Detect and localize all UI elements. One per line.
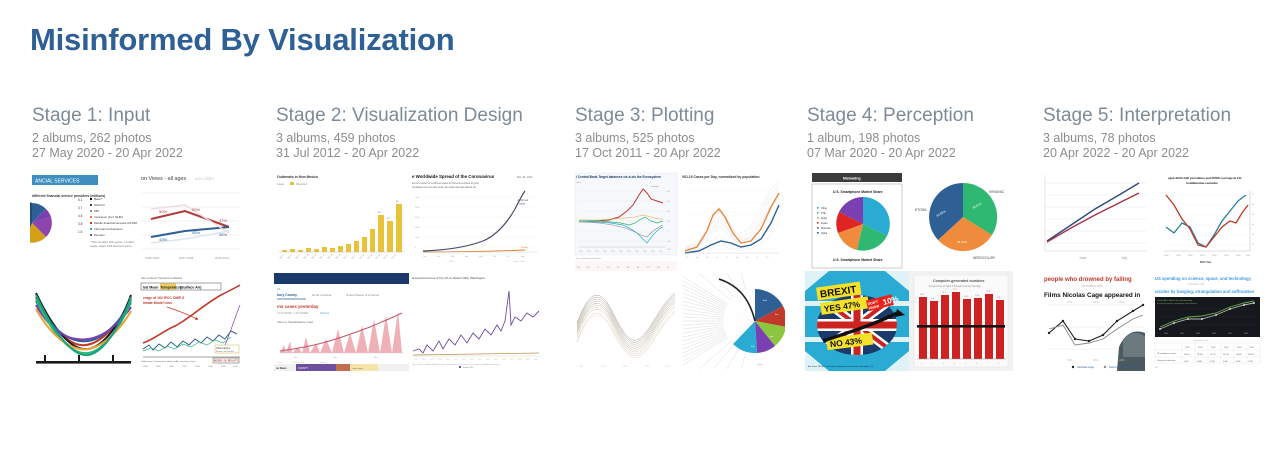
- thumb-financial-services-pie-chart[interactable]: ANCIAL SERVICES different financial serv…: [30, 171, 137, 271]
- svg-text:Temperature: Temperature: [161, 286, 183, 290]
- svg-text:50%: 50%: [159, 209, 167, 214]
- svg-text:July: July: [1121, 256, 1127, 260]
- svg-text:Bank*: Bank*: [94, 197, 103, 201]
- svg-text:erage of 102 IPCC CMIP-5: erage of 102 IPCC CMIP-5: [143, 296, 184, 300]
- svg-text:Note: Sources including 1940s,: Note: Sources including 1940s, the data …: [412, 363, 501, 366]
- svg-text:Global mean Temperature (Surfa: Global mean Temperature (Surface Air) an…: [141, 360, 196, 363]
- svg-text:people, subject 2016 FinAccess: people, subject 2016 FinAccess Survey: [90, 245, 133, 248]
- thumb-brexit-referendum-graphic[interactable]: BREXIT YES 47% NO 43% DON'T: [805, 271, 909, 371]
- svg-text:June: June: [1079, 256, 1086, 260]
- svg-text:COUNTY: COUNTY: [298, 367, 308, 370]
- svg-text:Jun: Jun: [493, 256, 496, 258]
- svg-text:350k: 350k: [415, 217, 419, 219]
- svg-text:1972: 1972: [502, 359, 506, 361]
- svg-text:200: 200: [667, 221, 670, 223]
- svg-text:1.6: 1.6: [78, 230, 83, 234]
- svg-text:1937: 1937: [446, 359, 450, 361]
- svg-text:Household income of Top 1% vs.: Household income of Top 1% vs. Bottom 99…: [412, 276, 485, 280]
- svg-text:2002: 2002: [587, 251, 591, 253]
- stage-2-thumbnail-grid[interactable]: Outbreaks in New Mexico Cases Reported: [274, 171, 544, 371]
- svg-text:6.1: 6.1: [78, 198, 83, 202]
- svg-text:700k: 700k: [415, 197, 419, 199]
- svg-text:SACCO: SACCO: [94, 203, 105, 207]
- svg-text:1880: 1880: [156, 366, 162, 368]
- stage-3-title[interactable]: Stage 3: Plotting: [575, 104, 805, 128]
- svg-text:1960: 1960: [208, 366, 214, 368]
- svg-text:limate Model runs: limate Model runs: [143, 301, 172, 305]
- stage-card-3[interactable]: Stage 3: Plotting 3 albums, 525 photos 1…: [573, 104, 805, 371]
- svg-text:AEROCOLOR: AEROCOLOR: [973, 256, 995, 260]
- svg-text:1922: 1922: [422, 359, 426, 361]
- svg-text:-200: -200: [667, 241, 671, 243]
- svg-text:500k: 500k: [415, 207, 419, 209]
- svg-text:Mar 28, 2020: Mar 28, 2020: [517, 175, 533, 179]
- svg-text:2010: 2010: [645, 366, 649, 368]
- svg-text:(R): (R): [1155, 367, 1158, 369]
- svg-text:VIRGINIC: VIRGINIC: [989, 190, 1005, 194]
- svg-text:2005: 2005: [611, 251, 615, 253]
- svg-text:correlates with: correlates with: [1188, 282, 1205, 286]
- thumb-new-mexico-yellow-bar-chart[interactable]: Outbreaks in New Mexico Cases Reported: [274, 171, 409, 271]
- svg-text:Cases: Cases: [277, 182, 285, 186]
- svg-text:400: 400: [667, 211, 670, 213]
- svg-text:Scandinavian countries: Scandinavian countries: [1186, 181, 1219, 185]
- svg-text:May: May: [374, 357, 378, 359]
- svg-text:As the number of confirmed cas: As the number of confirmed cases in Curr…: [412, 182, 479, 185]
- svg-text:Motorola: Motorola: [821, 227, 831, 230]
- svg-text:Suicides by hanging, strangula: Suicides by hanging, strangulation and s…: [1157, 302, 1197, 305]
- svg-text:1932: 1932: [438, 359, 442, 361]
- stage-card-2[interactable]: Stage 2: Visualization Design 3 albums, …: [274, 104, 573, 371]
- svg-text:ms cases yesterday: ms cases yesterday: [277, 304, 319, 309]
- svg-text:Mar: Mar: [686, 257, 689, 259]
- svg-text:MODEL VS. REALITY: MODEL VS. REALITY: [214, 360, 238, 363]
- thumb-multi-line-u-curve-chart[interactable]: [30, 271, 137, 371]
- svg-text:2007: 2007: [627, 251, 631, 253]
- svg-text:U.S. Smartphone Market Share: U.S. Smartphone Market Share: [833, 190, 883, 194]
- svg-text:1917: 1917: [414, 359, 418, 361]
- thumb-worldwide-spread-coronavirus-chart[interactable]: e Worldwide Spread of the Coronavirus Ma…: [409, 171, 544, 271]
- svg-text:3.8: 3.8: [78, 222, 83, 226]
- svg-text:100k: 100k: [415, 237, 419, 239]
- svg-text:2006: 2006: [619, 251, 623, 253]
- svg-text:(Surface Air): (Surface Air): [180, 286, 202, 290]
- svg-text:on Views - all ages: on Views - all ages: [141, 176, 186, 182]
- svg-text:nformed: nformed: [320, 312, 329, 315]
- svg-text:Nov: Nov: [766, 257, 769, 259]
- svg-text:Observations: Observations: [216, 347, 231, 350]
- svg-text:US spending on science, space,: US spending on science, space, and techn…: [1155, 276, 1252, 281]
- stage-2-title[interactable]: Stage 2: Visualization Design: [276, 104, 573, 128]
- svg-text:Bottom 99%: Bottom 99%: [463, 366, 474, 369]
- svg-text:Balloon and Satellite: Balloon and Satellite: [216, 350, 235, 353]
- svg-text:Swimming pool drownings: Swimming pool drownings: [1109, 365, 1140, 369]
- svg-text:Aug: Aug: [521, 255, 525, 258]
- svg-text:20.734: 20.734: [1223, 354, 1229, 356]
- svg-text:Birth Year: Birth Year: [1200, 261, 1211, 264]
- svg-text:1952: 1952: [470, 359, 474, 361]
- svg-text:4.8: 4.8: [78, 214, 83, 218]
- svg-text:May: May: [706, 257, 709, 259]
- svg-text:Sep: Sep: [746, 257, 749, 259]
- stage-5-counts: 3 albums, 78 photos: [1043, 131, 1275, 146]
- stage-3-dates: 17 Oct 2011 - 20 Apr 2022: [575, 146, 805, 161]
- svg-text:Mar: Mar: [451, 256, 455, 258]
- svg-text:0: 0: [667, 231, 668, 233]
- svg-text:2001: 2001: [579, 251, 583, 253]
- svg-text:-400: -400: [667, 249, 671, 251]
- svg-text:1920: 1920: [182, 366, 188, 368]
- svg-text:Source: National Central Banks: Source: National Central Banks: [576, 257, 601, 260]
- svg-text:Jun: Jun: [716, 257, 719, 259]
- svg-text:1957: 1957: [478, 359, 482, 361]
- svg-text:1982: 1982: [518, 359, 522, 361]
- svg-text:2003: 2003: [595, 251, 599, 253]
- svg-text:* Other providers (Sub-sectors: * Other providers (Sub-sectors, 1.2 mill…: [90, 241, 135, 244]
- svg-text:Deaths: Deaths: [521, 246, 529, 249]
- stage-1-counts: 2 albums, 262 photos: [32, 131, 274, 146]
- svg-text:tylervigen.com: tylervigen.com: [1194, 339, 1208, 342]
- svg-text:VID-19 Cases per Day, normaliz: VID-19 Cases per Day, normalized by popu…: [682, 175, 760, 179]
- svg-text:2003: 2003: [1196, 333, 1200, 335]
- thumb-county-new-cases-area-chart[interactable]: US bury County North Carolina United Sta…: [274, 271, 409, 371]
- svg-text:ANCIAL SERVICES: ANCIAL SERVICES: [35, 179, 80, 185]
- stage-columns: Stage 1: Input 2 albums, 262 photos 27 M…: [30, 104, 1275, 371]
- svg-text:Computer-generated numbers: Computer-generated numbers: [933, 279, 985, 283]
- stage-3-thumbnail-grid[interactable]: l Central Bank Target balances vis-à-vis…: [573, 171, 785, 371]
- svg-text:Apr: Apr: [334, 356, 337, 359]
- svg-text:2004: 2004: [603, 251, 607, 253]
- svg-text:U.S. Smartphone Market Share: U.S. Smartphone Market Share: [833, 258, 883, 262]
- svg-text:2008: 2008: [1119, 301, 1125, 304]
- svg-text:uicides by hanging, strangulat: uicides by hanging, strangulation and su…: [1155, 289, 1255, 294]
- svg-text:1995-2000: 1995-2000: [145, 256, 160, 260]
- svg-text:Suicides by suffocation: Suicides by suffocation: [1157, 359, 1175, 362]
- svg-text:Mar: Mar: [294, 357, 298, 359]
- svg-text:3.7: 3.7: [78, 206, 83, 210]
- svg-text:Apr: Apr: [465, 255, 468, 258]
- thumb-hiv-prevalence-scandinavia-chart[interactable]: aged AIDS/AID prevalence and MMR coverag…: [1152, 171, 1263, 271]
- svg-text:2004: 2004: [1093, 301, 1099, 304]
- svg-text:45%: 45%: [192, 230, 200, 235]
- svg-text:Mobile financial services (M-P: Mobile financial services (M-PESA)*: [94, 221, 137, 225]
- svg-text:Germany: Germany: [651, 186, 658, 188]
- thumb-misleading-smartphone-market-share-pie[interactable]: Misleading U.S. Smartphone Market Share …: [805, 171, 909, 271]
- svg-text:2005: 2005: [1212, 333, 1216, 335]
- svg-text:2008: 2008: [1119, 359, 1125, 362]
- thumb-radial-sunburst-pie-chart[interactable]: NorthEast SouthWest sunburst: [679, 271, 785, 371]
- svg-text:43%: 43%: [159, 237, 167, 242]
- thumb-spaghetti-lines-overplot-chart[interactable]: 200420062008 20102012: [573, 271, 679, 371]
- thumb-truncated-axis-red-bar-chart[interactable]: Computer-generated numbers Frequencies o…: [909, 271, 1013, 371]
- svg-text:20.831: 20.831: [1236, 354, 1242, 356]
- svg-text:6,635: 6,635: [1236, 361, 1241, 363]
- thumb-two-line-growth-chart[interactable]: JuneJuly: [1041, 171, 1152, 271]
- stage-4-thumbnail-grid[interactable]: Misleading U.S. Smartphone Market Share …: [805, 171, 1013, 371]
- svg-text:US spending on science: US spending on science: [1157, 353, 1176, 355]
- svg-text:US: US: [277, 288, 281, 291]
- svg-text:800: 800: [667, 191, 670, 193]
- svg-text:2008: 2008: [623, 366, 627, 368]
- stage-2-counts: 3 albums, 459 photos: [276, 131, 573, 146]
- svg-text:Frequencies of digits 0 throug: Frequencies of digits 0 through 9 as the…: [929, 285, 981, 288]
- stage-1-dates: 27 May 2020 - 20 Apr 2022: [32, 146, 274, 161]
- svg-text:600: 600: [667, 201, 670, 203]
- svg-text:2004: 2004: [579, 366, 583, 368]
- svg-text:1962: 1962: [486, 359, 490, 361]
- svg-text:bury County: bury County: [277, 293, 297, 297]
- svg-text:Misleading: Misleading: [843, 177, 861, 181]
- svg-text:Films Nicolas Cage appeared in: Films Nicolas Cage appeared in: [1044, 292, 1140, 299]
- svg-text:Cases vs. Hospitalizations (7-: Cases vs. Hospitalizations (7-day): [277, 321, 313, 324]
- svg-text:2009-2010: 2009-2010: [215, 256, 230, 260]
- svg-text:Cases: Cases: [277, 362, 283, 364]
- svg-text:correlates with: correlates with: [1081, 284, 1103, 288]
- svg-text:2000: 2000: [1067, 359, 1073, 362]
- stage-1-header: Stage 1: Input 2 albums, 262 photos 27 M…: [30, 104, 274, 161]
- svg-text:in bn: in bn: [576, 182, 580, 184]
- svg-text:and older: and older: [195, 176, 215, 181]
- svg-text:2006: 2006: [601, 366, 605, 368]
- svg-text:1992: 1992: [534, 359, 538, 361]
- svg-text:7-day average: 7-day average: [292, 362, 306, 364]
- stage-4-counts: 1 album, 198 photos: [807, 131, 1041, 146]
- svg-text:Outbreaks in New Mexico: Outbreaks in New Mexico: [277, 175, 318, 179]
- thumb-views-all-ages-line-chart[interactable]: on Views - all ages and older 50%50%: [137, 171, 244, 271]
- svg-text:United States of America: United States of America: [346, 293, 379, 297]
- svg-text:50%: 50%: [192, 207, 200, 212]
- svg-text:2000: 2000: [233, 366, 239, 368]
- thumb-household-income-spike-chart[interactable]: Household income of Top 1% vs. Bottom 99…: [409, 271, 544, 371]
- svg-text:ETOSA: ETOSA: [915, 208, 927, 212]
- page-title: Misinformed By Visualization: [30, 22, 454, 58]
- svg-text:45%: 45%: [219, 232, 227, 237]
- svg-text:worldwide over the past week,: worldwide over the past week, the death …: [412, 186, 477, 189]
- stage-4-header: Stage 4: Perception 1 album, 198 photos …: [805, 104, 1041, 161]
- svg-text:North Carolina: North Carolina: [312, 293, 332, 297]
- svg-text:Deaths: Deaths: [320, 361, 326, 364]
- svg-text:2007-2008: 2007-2008: [179, 256, 194, 260]
- svg-text:Reported: Reported: [296, 182, 307, 186]
- stage-4-title[interactable]: Stage 4: Perception: [807, 104, 1041, 128]
- svg-text:2004: 2004: [1093, 359, 1099, 362]
- stage-1-thumbnail-grid[interactable]: ANCIAL SERVICES different financial serv…: [30, 171, 244, 371]
- svg-text:us News: us News: [276, 366, 287, 370]
- svg-text:Fujian: Fujian: [821, 222, 828, 225]
- svg-text:1942: 1942: [454, 359, 458, 361]
- svg-text:e Worldwide Spread of the Coro: e Worldwide Spread of the Coronavirus: [412, 174, 495, 179]
- svg-text:18.594: 18.594: [1197, 354, 1203, 356]
- svg-text:23.029: 23.029: [1248, 354, 1254, 356]
- svg-text:1947: 1947: [462, 359, 466, 361]
- thumb-central-bank-target-balances-chart[interactable]: l Central Bank Target balances vis-à-vis…: [573, 171, 679, 271]
- svg-text:Pension: Pension: [94, 233, 105, 237]
- svg-text:Informal mechanisms: Informal mechanisms: [94, 227, 123, 231]
- app-root: Misinformed By Visualization Stage 1: In…: [0, 0, 1275, 457]
- svg-text:Nicholas Cage: Nicholas Cage: [1077, 365, 1094, 369]
- svg-text:34.44%: 34.44%: [957, 240, 968, 244]
- svg-text:Other: Other: [821, 207, 827, 210]
- stage-4-dates: 07 Mar 2020 - 20 Apr 2022: [807, 146, 1041, 161]
- svg-text:1977: 1977: [510, 359, 514, 361]
- stage-1-title[interactable]: Stage 1: Input: [32, 104, 274, 128]
- stage-2-dates: 31 Jul 2012 - 20 Apr 2022: [276, 146, 573, 161]
- stage-5-title[interactable]: Stage 5: Interpretation: [1043, 104, 1275, 128]
- stage-5-dates: 20 Apr 2022 - 20 Apr 2022: [1043, 146, 1275, 161]
- svg-text:Learn more: Learn more: [352, 367, 364, 370]
- svg-text:1900: 1900: [169, 366, 175, 368]
- svg-text:Jan: Jan: [423, 256, 426, 258]
- svg-text:1967: 1967: [494, 359, 498, 361]
- svg-text:cases: cases: [519, 203, 526, 206]
- thumb-nicolas-cage-drowning-correlation-chart[interactable]: people who drowned by falling correlates…: [1041, 271, 1152, 371]
- svg-text:47%: 47%: [219, 218, 227, 223]
- stage-card-4[interactable]: Stage 4: Perception 1 album, 198 photos …: [805, 104, 1041, 371]
- svg-text:5,427: 5,427: [1184, 361, 1189, 363]
- stage-5-thumbnail-grid[interactable]: JuneJuly aged AIDS/AID prevalence and MM…: [1041, 171, 1263, 371]
- thumb-three-slice-pie-chart[interactable]: VIRGINIC ETOSA AEROCOLOR 30.91% 34.65% 3…: [909, 171, 1013, 271]
- thumb-covid-cases-per-day-spaghetti-chart[interactable]: VID-19 Cases per Day, normalized by popu…: [679, 171, 785, 271]
- svg-text:1940: 1940: [195, 366, 201, 368]
- svg-text:people who drowned by falling: people who drowned by falling: [1044, 277, 1132, 283]
- svg-text:Nokia: Nokia: [821, 232, 828, 235]
- svg-text:6,462: 6,462: [1223, 361, 1228, 363]
- svg-text:MFI: MFI: [94, 209, 99, 213]
- svg-text:200k: 200k: [415, 227, 419, 229]
- svg-text:Sea vs Mount Tropical at a alt: Sea vs Mount Tropical at a altitudes: [141, 276, 183, 280]
- svg-text:aged AIDS/AID prevalence and M: aged AIDS/AID prevalence and MMR coverag…: [1168, 176, 1242, 180]
- svg-text:2012: 2012: [665, 366, 669, 368]
- svg-text:6,198: 6,198: [1210, 361, 1215, 363]
- svg-text:7,336: 7,336: [1248, 361, 1253, 363]
- svg-text:2001: 2001: [1180, 333, 1184, 335]
- thumb-global-temperature-anomaly-chart[interactable]: Sea vs Mount Tropical at a altitudes bal…: [137, 271, 244, 371]
- svg-text:1980: 1980: [221, 366, 227, 368]
- svg-text:Insurance (incl. NHIF): Insurance (incl. NHIF): [94, 215, 123, 219]
- svg-text:Presented in tabular form and: Presented in tabular form and heat map: [1157, 299, 1193, 302]
- svg-text:1999: 1999: [1164, 333, 1168, 335]
- stage-card-5[interactable]: Stage 5: Interpretation 3 albums, 78 pho…: [1041, 104, 1275, 371]
- svg-text:Source: Data: Source: Data: [513, 260, 526, 263]
- svg-text:1860: 1860: [143, 366, 149, 368]
- svg-text:l Central Bank Target balances: l Central Bank Target balances vis-à-vis…: [576, 175, 661, 179]
- svg-text:18.079: 18.079: [1184, 354, 1190, 356]
- svg-text:1987: 1987: [526, 359, 530, 361]
- svg-text:1927: 1927: [430, 359, 434, 361]
- stage-3-header: Stage 3: Plotting 3 albums, 525 photos 1…: [573, 104, 805, 161]
- svg-text:2008: 2008: [635, 251, 639, 253]
- svg-text:2000: 2000: [1067, 301, 1073, 304]
- svg-text:19.753: 19.753: [1210, 354, 1216, 356]
- stage-card-1[interactable]: Stage 1: Input 2 albums, 262 photos 27 M…: [30, 104, 274, 371]
- svg-text:May: May: [479, 256, 483, 258]
- svg-text:2010: 2010: [651, 251, 655, 253]
- thumb-science-spending-suffocation-correlation-chart[interactable]: US spending on science, space, and techn…: [1152, 271, 1263, 371]
- svg-text:Are there YES/NO and both inde: Are there YES/NO and both independent el…: [808, 365, 874, 368]
- svg-text:bal Mean: bal Mean: [143, 286, 158, 290]
- svg-text:5,688: 5,688: [1197, 361, 1202, 363]
- svg-text:Apple: Apple: [821, 217, 828, 220]
- svg-text:2011: 2011: [659, 251, 663, 253]
- svg-text:2009: 2009: [1244, 333, 1248, 335]
- svg-text:14.3% MORE / 1.2% FEWER: 14.3% MORE / 1.2% FEWER: [277, 312, 309, 315]
- stage-5-header: Stage 5: Interpretation 3 albums, 78 pho…: [1041, 104, 1275, 161]
- svg-text:ZTE: ZTE: [821, 212, 826, 215]
- svg-text:2009: 2009: [643, 251, 647, 253]
- stage-3-counts: 3 albums, 525 photos: [575, 131, 805, 146]
- svg-text:2007: 2007: [1228, 333, 1232, 335]
- stage-2-header: Stage 2: Visualization Design 3 albums, …: [274, 104, 573, 161]
